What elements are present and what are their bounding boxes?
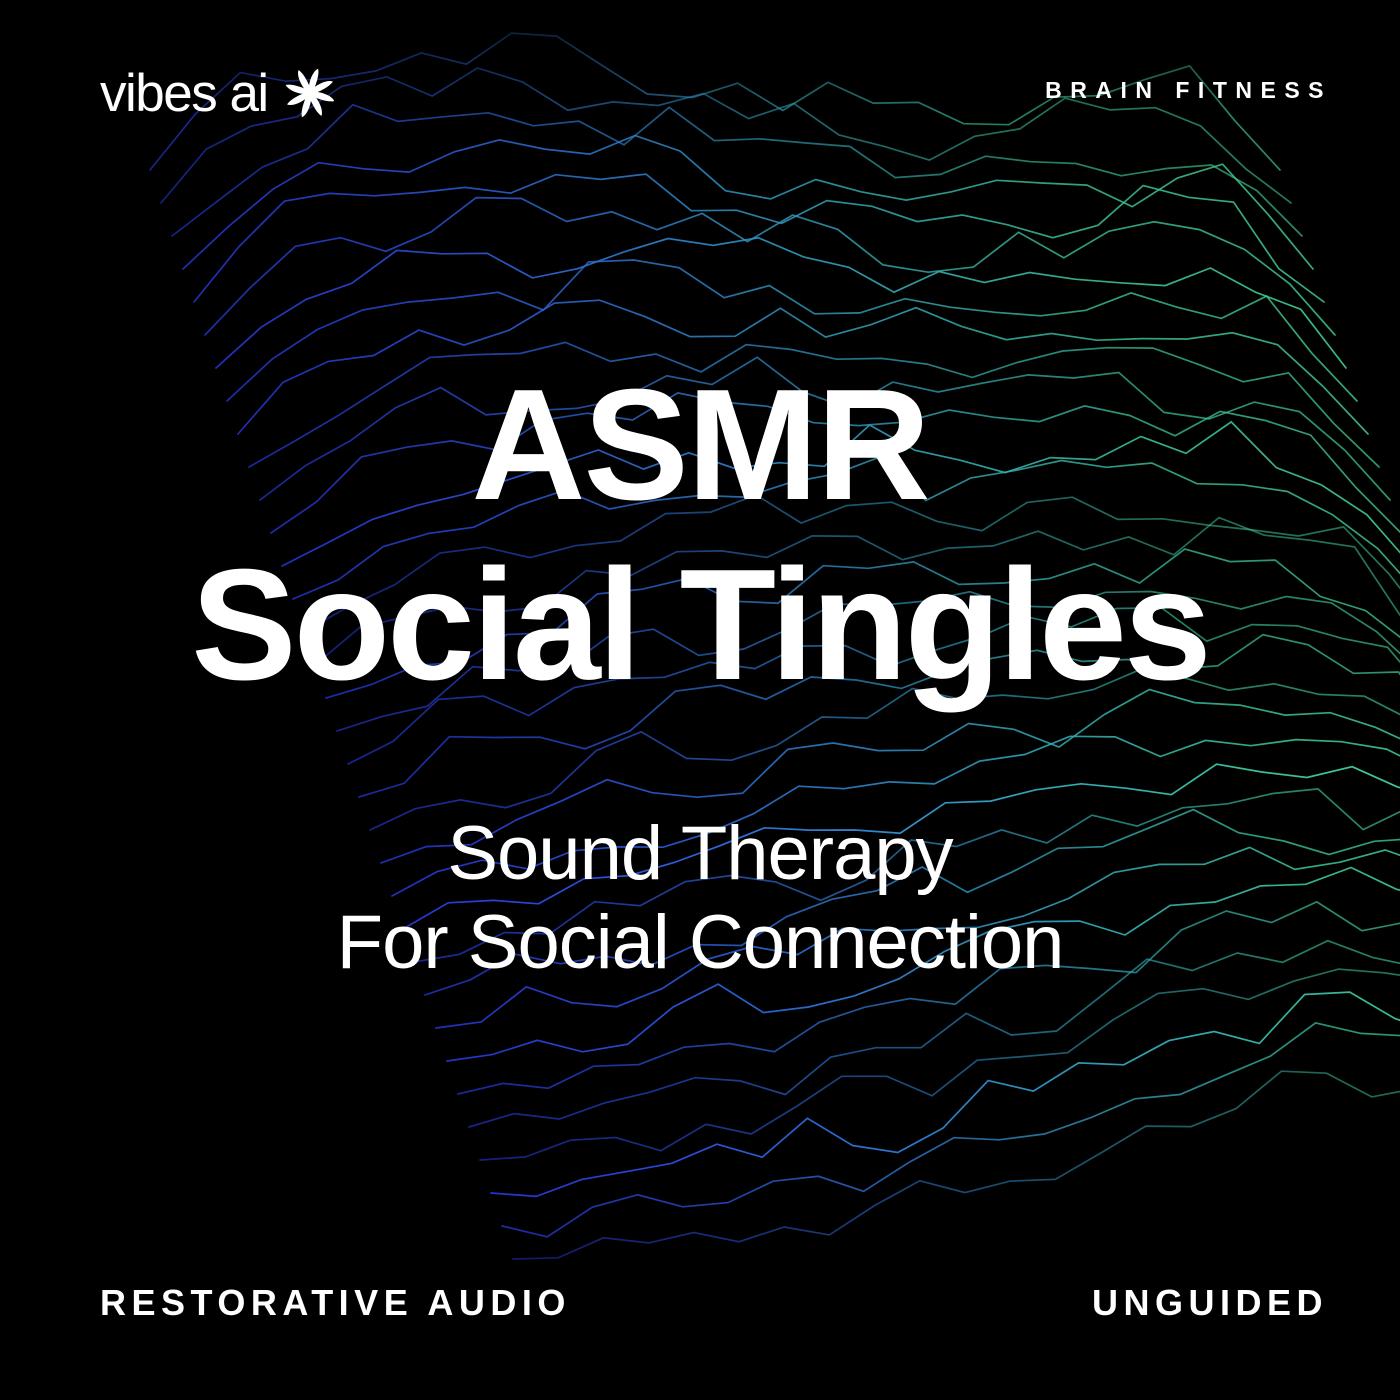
waveform-ridge-line	[326, 549, 1400, 698]
waveform-ridge-line	[348, 608, 1400, 764]
waveform-ridge-line	[469, 941, 1400, 1127]
waveform-ridge-line	[447, 868, 1400, 1062]
album-cover: vibes ai	[0, 0, 1400, 1400]
brand-logo[interactable]: vibes ai	[100, 58, 336, 128]
waveform-artwork	[0, 0, 1400, 1400]
waveform-ridge-line	[359, 635, 1400, 797]
waveform-ridge-line	[249, 342, 1379, 467]
waveform-ridge-line	[183, 136, 1313, 270]
waveform-ridge-line	[227, 260, 1357, 401]
waveform-ridge-line	[425, 810, 1400, 995]
category-eyebrow: BRAIN FITNESS	[1045, 77, 1332, 104]
waveform-ridge-line	[491, 992, 1400, 1196]
cover-header: vibes ai	[0, 58, 1400, 128]
waveform-ridge-line	[315, 518, 1400, 665]
waveform-ridge-line	[392, 736, 1400, 896]
waveform-ridge-line	[513, 1071, 1400, 1259]
waveform-ridge-line	[381, 690, 1400, 864]
waveform-ridge-line	[502, 1023, 1400, 1237]
waveform-ridge-line	[436, 847, 1400, 1028]
waveform-ridge-line	[458, 902, 1400, 1094]
brand-wordmark: vibes ai	[100, 67, 268, 120]
waveform-ridge-line	[403, 764, 1400, 929]
waveform-ridge-line	[271, 393, 1400, 533]
waveform-ridge-line	[238, 300, 1368, 434]
footer-left-label: RESTORATIVE AUDIO	[100, 1282, 571, 1324]
pinwheel-flower-icon	[284, 67, 336, 119]
cover-footer: RESTORATIVE AUDIO UNGUIDED	[0, 1282, 1400, 1328]
footer-right-label: UNGUIDED	[1092, 1282, 1328, 1324]
waveform-ridge-line	[282, 422, 1400, 566]
waveform-ridge-line	[304, 495, 1400, 632]
